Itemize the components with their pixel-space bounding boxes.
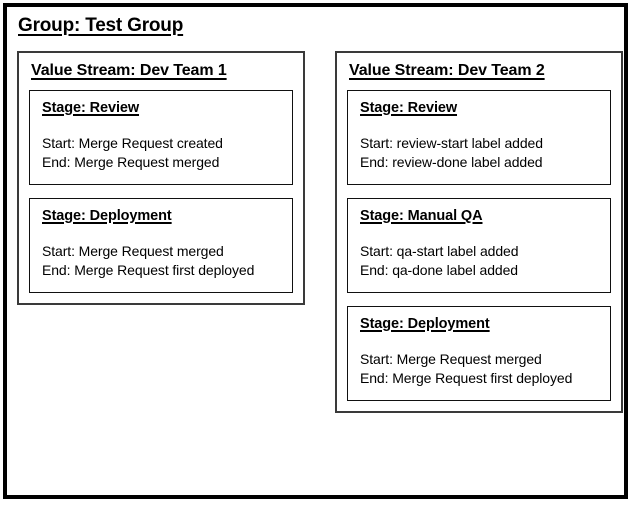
stage-title: Stage: Deployment — [42, 208, 280, 224]
page-title: Group: Test Group — [18, 15, 183, 37]
stage-start-event: Start: Merge Request merged — [360, 350, 598, 369]
stage-card[interactable]: Stage: Deployment Start: Merge Request m… — [347, 306, 611, 401]
stage-title: Stage: Review — [42, 100, 280, 116]
stage-card[interactable]: Stage: Review Start: Merge Request creat… — [29, 90, 293, 185]
stage-start-event: Start: review-start label added — [360, 134, 598, 153]
value-stream-title: Value Stream: Dev Team 2 — [349, 62, 611, 80]
stage-list: Stage: Review Start: Merge Request creat… — [29, 90, 293, 293]
stage-list: Stage: Review Start: review-start label … — [347, 90, 611, 401]
stage-title: Stage: Review — [360, 100, 598, 116]
stage-end-event: End: Merge Request merged — [42, 153, 280, 172]
stage-card[interactable]: Stage: Review Start: review-start label … — [347, 90, 611, 185]
stage-title: Stage: Deployment — [360, 316, 598, 332]
stage-title: Stage: Manual QA — [360, 208, 598, 224]
stage-start-event: Start: Merge Request created — [42, 134, 280, 153]
value-stream-card[interactable]: Value Stream: Dev Team 2 Stage: Review S… — [335, 51, 623, 413]
value-stream-card[interactable]: Value Stream: Dev Team 1 Stage: Review S… — [17, 51, 305, 305]
stage-start-event: Start: qa-start label added — [360, 242, 598, 261]
group-frame: Group: Test Group Value Stream: Dev Team… — [3, 3, 628, 499]
stage-end-event: End: review-done label added — [360, 153, 598, 172]
value-streams-container: Value Stream: Dev Team 1 Stage: Review S… — [7, 51, 624, 495]
stage-card[interactable]: Stage: Deployment Start: Merge Request m… — [29, 198, 293, 293]
stage-card[interactable]: Stage: Manual QA Start: qa-start label a… — [347, 198, 611, 293]
stage-end-event: End: Merge Request first deployed — [360, 369, 598, 388]
value-stream-title: Value Stream: Dev Team 1 — [31, 62, 293, 80]
stage-end-event: End: qa-done label added — [360, 261, 598, 280]
stage-end-event: End: Merge Request first deployed — [42, 261, 280, 280]
stage-start-event: Start: Merge Request merged — [42, 242, 280, 261]
